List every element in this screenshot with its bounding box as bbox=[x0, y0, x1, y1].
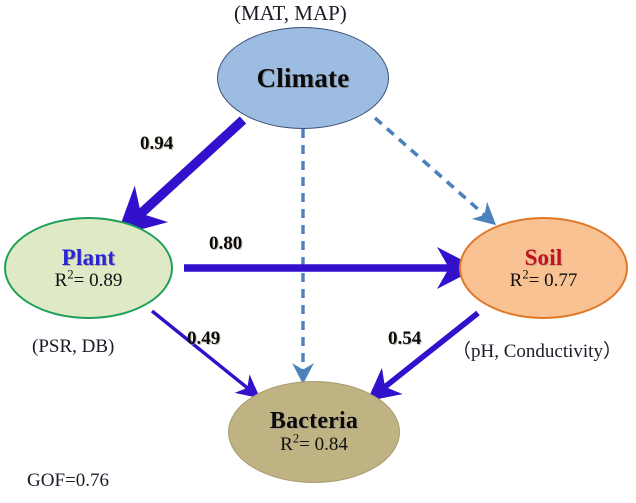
node-plant-label: Plant bbox=[62, 246, 115, 270]
coefficient-climate-to-plant: 0.94 bbox=[140, 133, 173, 155]
node-soil-r2-value: = 0.77 bbox=[529, 270, 578, 291]
node-soil-r2: R2= 0.77 bbox=[510, 271, 578, 291]
gof-label: GOF=0.76 bbox=[27, 470, 109, 492]
node-soil-r2-prefix: R bbox=[510, 270, 523, 291]
sem-diagram-canvas: Climate Plant R2= 0.89 Soil R2= 0.77 Bac… bbox=[0, 0, 636, 503]
node-bacteria-r2: R2= 0.84 bbox=[280, 435, 348, 455]
node-climate-label: Climate bbox=[257, 64, 350, 92]
node-plant-r2-value: = 0.89 bbox=[74, 270, 123, 291]
node-plant-r2: R2= 0.89 bbox=[55, 271, 123, 291]
path-plant-to-bacteria bbox=[152, 311, 250, 390]
node-bacteria[interactable]: Bacteria R2= 0.84 bbox=[228, 381, 400, 483]
node-bacteria-r2-value: = 0.84 bbox=[299, 434, 348, 455]
coefficient-plant-to-bacteria: 0.49 bbox=[187, 328, 220, 350]
climate-indicators-label: (MAT, MAP) bbox=[234, 1, 347, 26]
node-soil-label: Soil bbox=[525, 246, 563, 270]
node-climate[interactable]: Climate bbox=[217, 27, 389, 129]
node-plant-r2-prefix: R bbox=[55, 270, 68, 291]
soil-indicators-label: （pH, Conductivity） bbox=[452, 336, 622, 363]
node-plant[interactable]: Plant R2= 0.89 bbox=[4, 217, 173, 319]
coefficient-soil-to-bacteria: 0.54 bbox=[388, 328, 421, 350]
plant-indicators-label: (PSR, DB) bbox=[32, 336, 114, 358]
node-bacteria-label: Bacteria bbox=[270, 409, 358, 434]
node-bacteria-r2-prefix: R bbox=[280, 434, 293, 455]
coefficient-plant-to-soil: 0.80 bbox=[209, 233, 242, 255]
node-soil[interactable]: Soil R2= 0.77 bbox=[459, 217, 628, 319]
path-climate-to-soil bbox=[375, 118, 488, 218]
